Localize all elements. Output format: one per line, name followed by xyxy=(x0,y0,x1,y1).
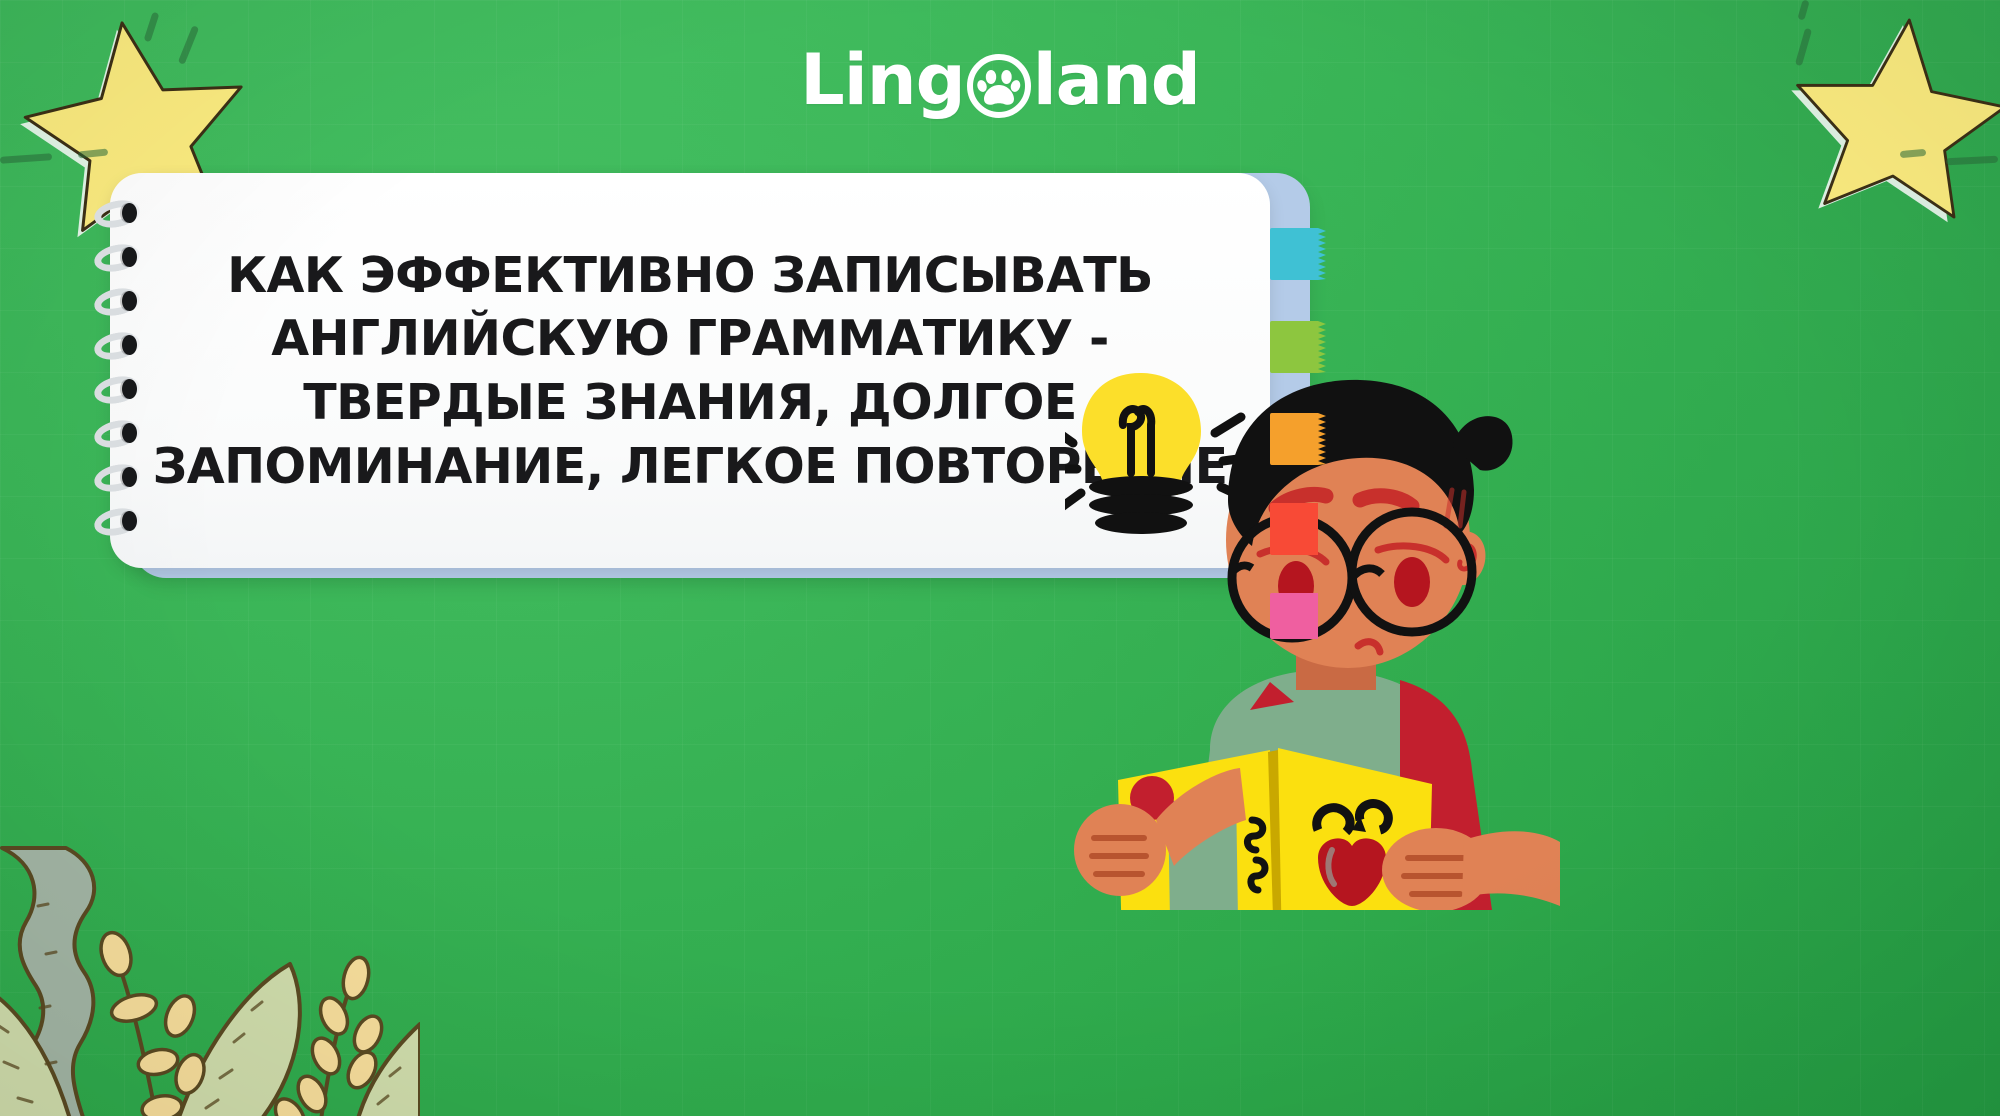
brand-name-part1: Ling xyxy=(800,45,965,115)
spiral-hole xyxy=(122,423,137,443)
tab-red[interactable] xyxy=(1270,503,1318,555)
tab-zigzag-edge xyxy=(1318,321,1326,373)
spiral-hole xyxy=(122,247,137,267)
tab-pink[interactable] xyxy=(1270,593,1318,639)
character-eye-right xyxy=(1394,557,1430,607)
tab-cyan[interactable] xyxy=(1270,228,1318,280)
heading-line-2: АНГЛИЙСКУЮ ГРАММАТИКУ - xyxy=(271,307,1109,371)
seed-stem-1 xyxy=(96,929,209,1116)
heading-line-1: КАК ЭФФЕКТИВНО ЗАПИСЫВАТЬ xyxy=(227,244,1153,308)
paw-print-icon xyxy=(967,54,1031,118)
spiral-hole xyxy=(122,467,137,487)
notepad-heading: КАК ЭФФЕКТИВНО ЗАПИСЫВАТЬ АНГЛИЙСКУЮ ГРА… xyxy=(170,221,1210,521)
spiral-hole xyxy=(122,203,137,223)
heading-line-3: ТВЕРДЫЕ ЗНАНИЯ, ДОЛГОЕ xyxy=(303,371,1076,435)
foliage-cluster xyxy=(0,786,410,1116)
spiral-hole xyxy=(122,335,137,355)
tab-zigzag-edge xyxy=(1318,228,1326,280)
tab-zigzag-edge xyxy=(1318,413,1326,465)
spiral-hole xyxy=(122,511,137,531)
spiral-hole xyxy=(122,379,137,399)
brand-logo[interactable]: Ling land xyxy=(0,36,2000,124)
spiral-hole xyxy=(122,291,137,311)
poster-canvas: Ling land xyxy=(0,0,2000,1116)
character-left-hand xyxy=(1074,804,1166,896)
brand-name-part2: land xyxy=(1033,45,1200,115)
tab-green[interactable] xyxy=(1270,321,1318,373)
tab-orange[interactable] xyxy=(1270,413,1318,465)
